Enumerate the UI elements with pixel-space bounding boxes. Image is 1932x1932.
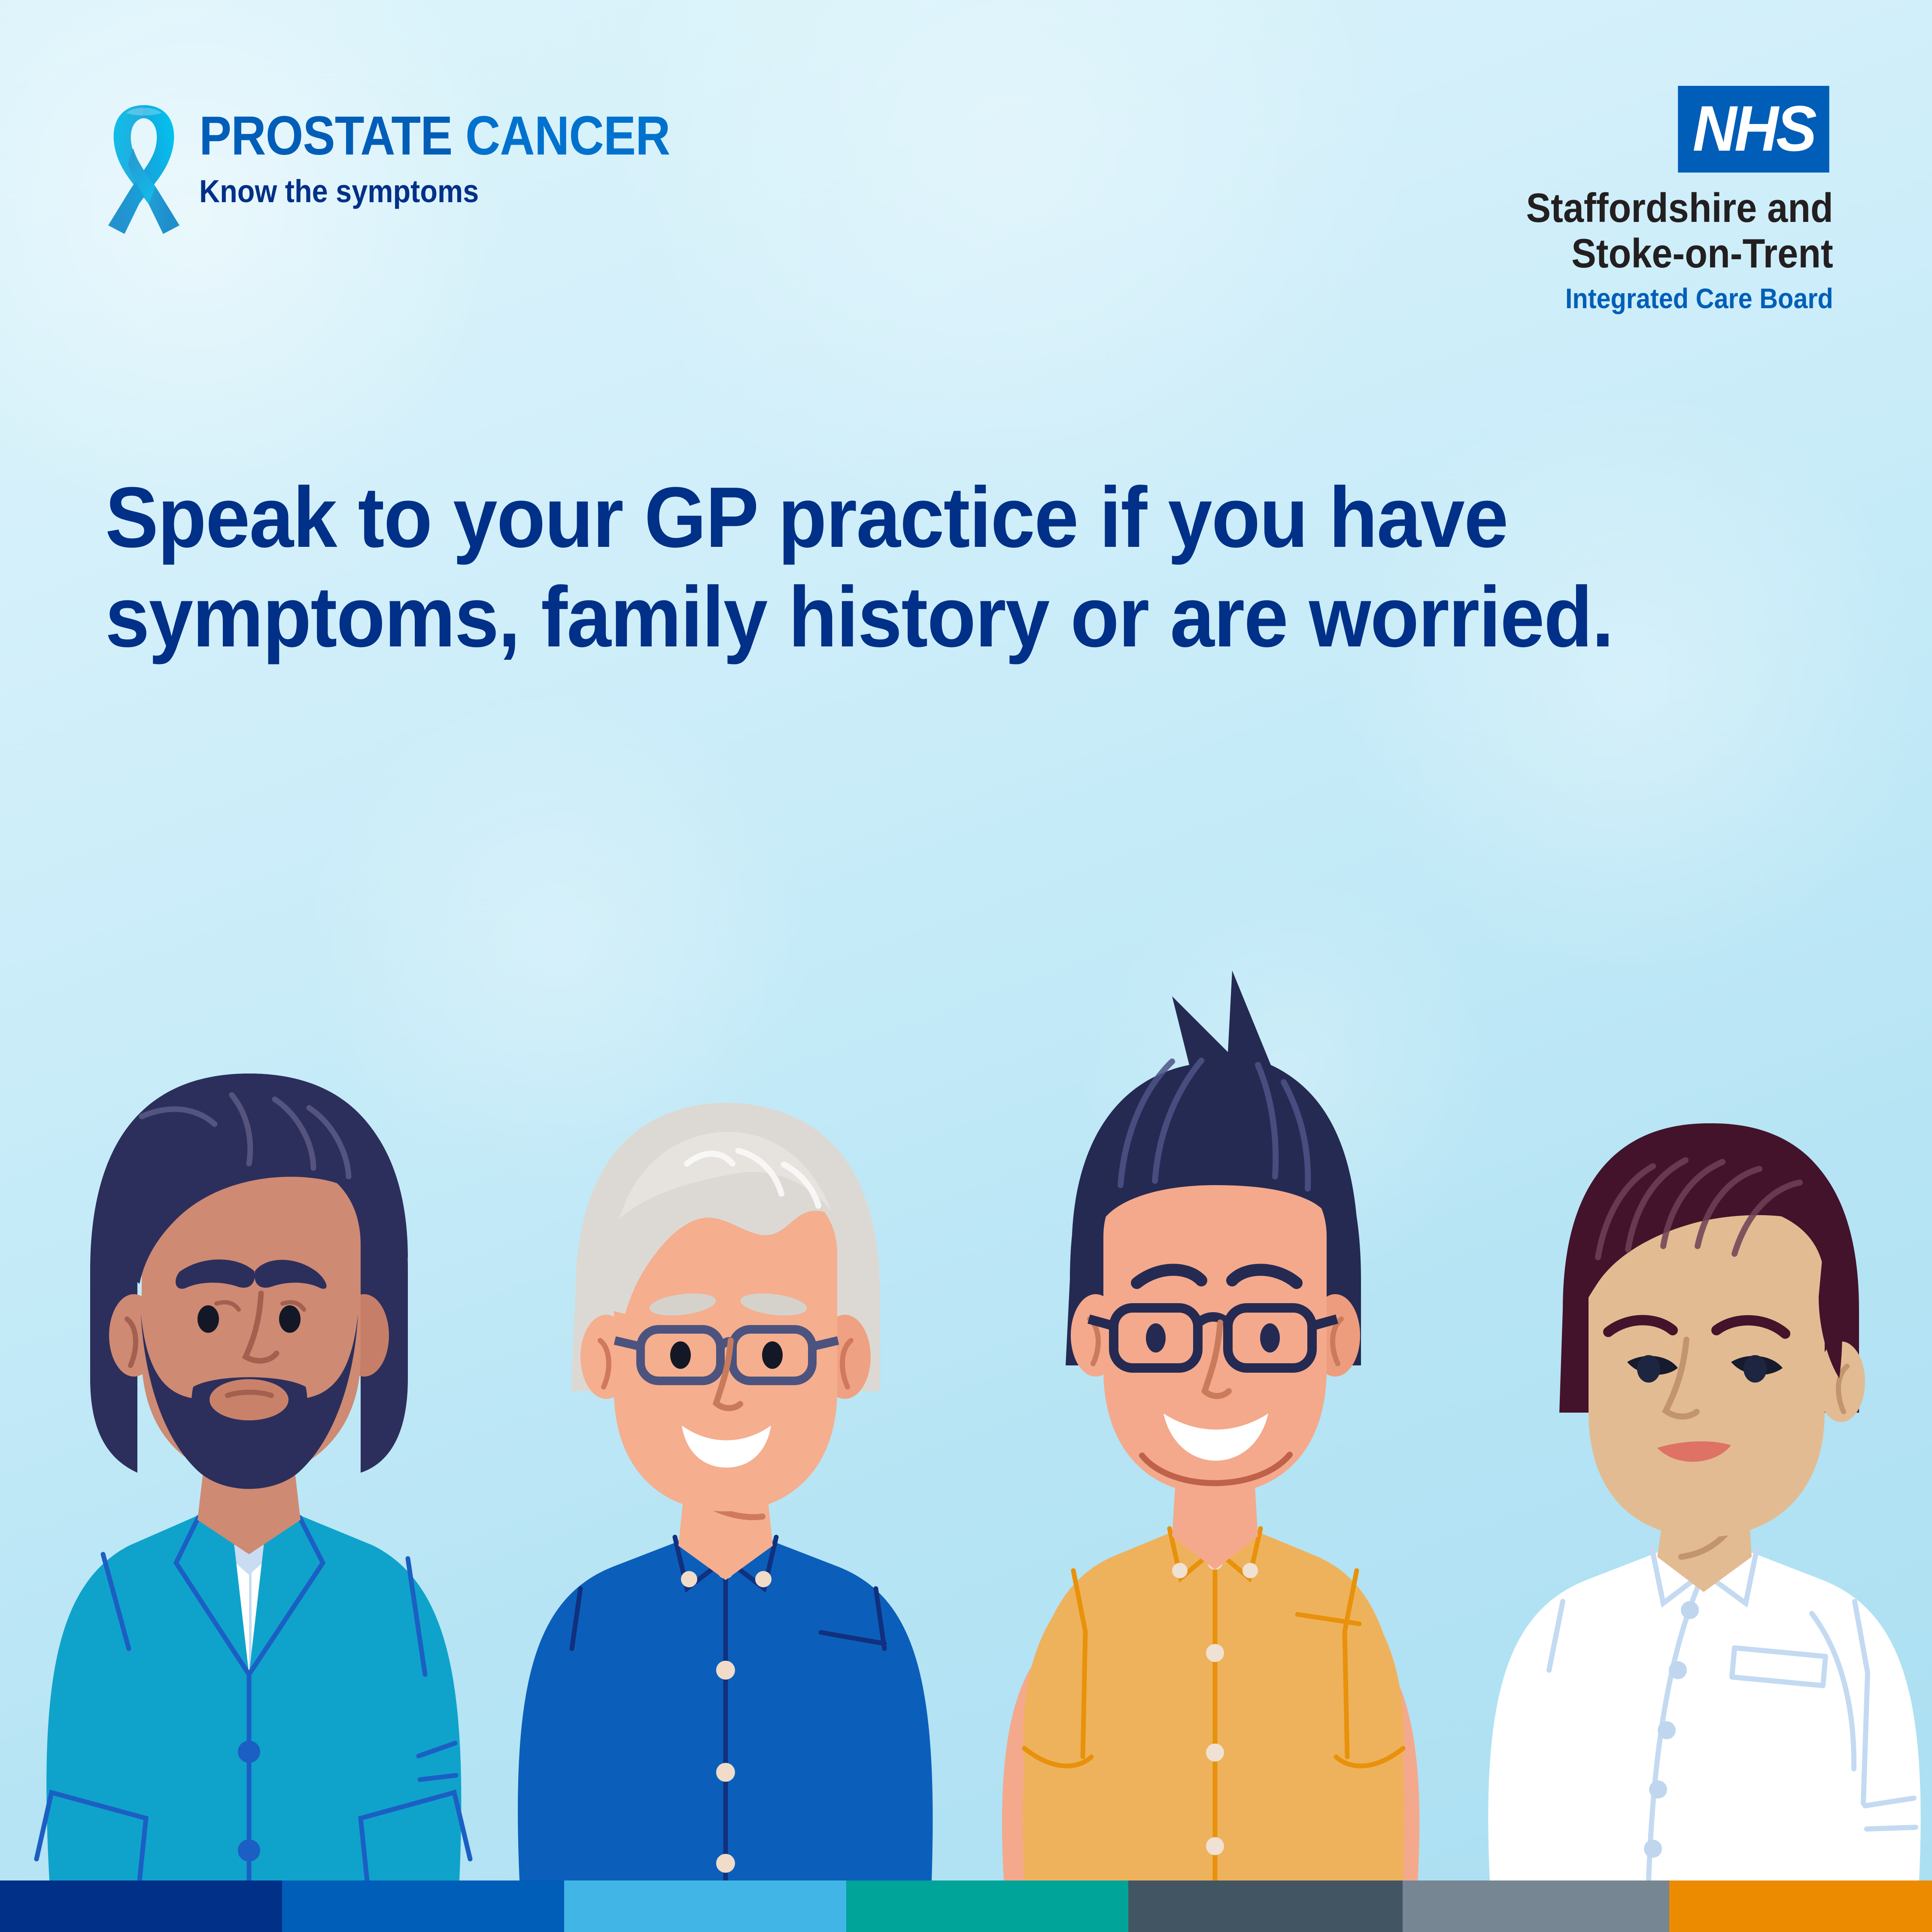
background-blob (0, 0, 515, 537)
color-bar-segment-mid-grey (1403, 1880, 1669, 1932)
color-bar-segment-dark-grey (1128, 1880, 1403, 1932)
color-bar-segment-light-blue (564, 1880, 846, 1932)
campaign-title-word1: PROSTATE (199, 105, 453, 167)
person-spiky-hair-yellow-shirt (932, 910, 1490, 1880)
color-bar-segment-blue (282, 1880, 564, 1932)
people-illustration-group (0, 893, 1932, 1880)
nhs-org-line1: Staffordshire and (1526, 185, 1833, 231)
awareness-ribbon-icon (107, 97, 180, 243)
nhs-organisation-name: Staffordshire and Stoke-on-Trent (1526, 185, 1833, 276)
poster-canvas: PROSTATE CANCER Know the symptoms NHS St… (0, 0, 1932, 1932)
color-bar-segment-orange (1669, 1880, 1932, 1932)
nhs-wordmark: NHS (1678, 86, 1829, 173)
campaign-title-word2: CANCER (465, 105, 670, 167)
nhs-org-line2: Stoke-on-Trent (1526, 231, 1833, 276)
person-grey-hair-blue-shirt (455, 979, 992, 1880)
person-bearded-teal-blazer (0, 945, 511, 1880)
color-bar-segment-navy (0, 1880, 282, 1932)
nhs-logo: NHS Staffordshire and Stoke-on-Trent Int… (1492, 86, 1833, 314)
campaign-title: PROSTATE CANCER (199, 109, 670, 164)
color-bar-segment-teal (846, 1880, 1128, 1932)
campaign-subtitle: Know the symptoms (199, 173, 680, 209)
page-title: Speak to your GP practice if you have sy… (105, 468, 1662, 667)
prostate-cancer-logo: PROSTATE CANCER Know the symptoms (107, 97, 734, 243)
brand-color-bar (0, 1880, 1932, 1932)
nhs-department: Integrated Care Board (1526, 283, 1833, 314)
person-dark-hair-white-shirt (1434, 1001, 1932, 1880)
